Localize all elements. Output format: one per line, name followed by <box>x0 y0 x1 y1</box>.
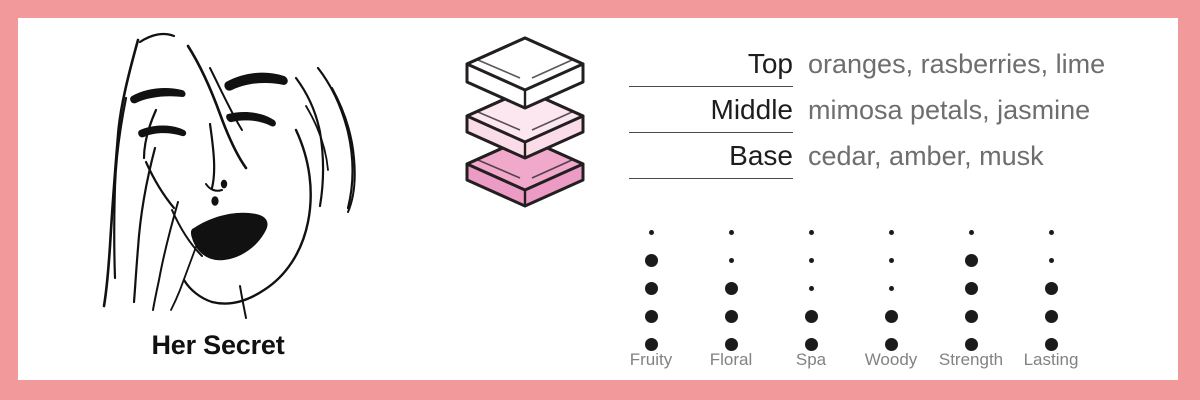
rating-label-spa: Spa <box>771 350 851 370</box>
rating-dot-empty <box>889 230 894 235</box>
note-label-top: Top <box>613 46 793 82</box>
rating-label-woody: Woody <box>851 350 931 370</box>
scent-rating-chart: FruityFloralSpaWoodyStrengthLasting <box>611 218 1111 378</box>
rating-dot-filled <box>805 310 818 323</box>
rating-dots <box>611 218 691 346</box>
rating-dot-filled <box>965 282 978 295</box>
rating-dot-empty <box>889 258 894 263</box>
portrait-panel: Her Secret <box>18 18 438 380</box>
stacked-fragrance-layers-icon <box>450 30 600 215</box>
note-value-middle: mimosa petals, jasmine <box>808 92 1090 128</box>
rating-dot-filled <box>965 254 978 267</box>
rating-dot-filled <box>645 282 658 295</box>
note-value-top: oranges, rasberries, lime <box>808 46 1105 82</box>
note-rule-base <box>629 178 793 179</box>
rating-dot-empty <box>1049 258 1054 263</box>
note-row-base: Base cedar, amber, musk <box>613 138 1173 184</box>
rating-dot-empty <box>809 286 814 291</box>
rating-label-floral: Floral <box>691 350 771 370</box>
note-rule-top <box>629 86 793 87</box>
rating-dots <box>771 218 851 346</box>
rating-dot-empty <box>809 258 814 263</box>
rating-dot-filled <box>725 310 738 323</box>
rating-dot-empty <box>969 230 974 235</box>
rating-dot-filled <box>1045 282 1058 295</box>
rating-dots <box>851 218 931 346</box>
womans-face-sketch-icon <box>60 32 378 324</box>
rating-dot-filled <box>645 310 658 323</box>
note-label-middle: Middle <box>613 92 793 128</box>
rating-dot-empty <box>809 230 814 235</box>
rating-dots <box>931 218 1011 346</box>
rating-dot-empty <box>729 258 734 263</box>
rating-column-woody: Woody <box>851 218 931 378</box>
rating-dot-filled <box>1045 310 1058 323</box>
fragrance-card: Her Secret Top <box>18 18 1178 380</box>
rating-dot-filled <box>725 282 738 295</box>
note-row-middle: Middle mimosa petals, jasmine <box>613 92 1173 138</box>
rating-column-strength: Strength <box>931 218 1011 378</box>
note-row-top: Top oranges, rasberries, lime <box>613 46 1173 92</box>
rating-label-fruity: Fruity <box>611 350 691 370</box>
rating-dot-empty <box>649 230 654 235</box>
rating-dot-filled <box>645 254 658 267</box>
note-value-base: cedar, amber, musk <box>808 138 1044 174</box>
top-note-layer <box>467 38 583 108</box>
rating-label-lasting: Lasting <box>1011 350 1091 370</box>
fragrance-notes-list: Top oranges, rasberries, lime Middle mim… <box>613 46 1173 184</box>
rating-column-floral: Floral <box>691 218 771 378</box>
rating-dots <box>1011 218 1091 346</box>
rating-column-spa: Spa <box>771 218 851 378</box>
rating-label-strength: Strength <box>931 350 1011 370</box>
rating-dot-empty <box>729 230 734 235</box>
rating-dots <box>691 218 771 346</box>
rating-column-lasting: Lasting <box>1011 218 1091 378</box>
rating-dot-filled <box>965 310 978 323</box>
rating-column-fruity: Fruity <box>611 218 691 378</box>
brand-title: Her Secret <box>18 330 418 361</box>
rating-dot-empty <box>889 286 894 291</box>
note-label-base: Base <box>613 138 793 174</box>
rating-dot-empty <box>1049 230 1054 235</box>
rating-dot-filled <box>885 310 898 323</box>
note-rule-middle <box>629 132 793 133</box>
